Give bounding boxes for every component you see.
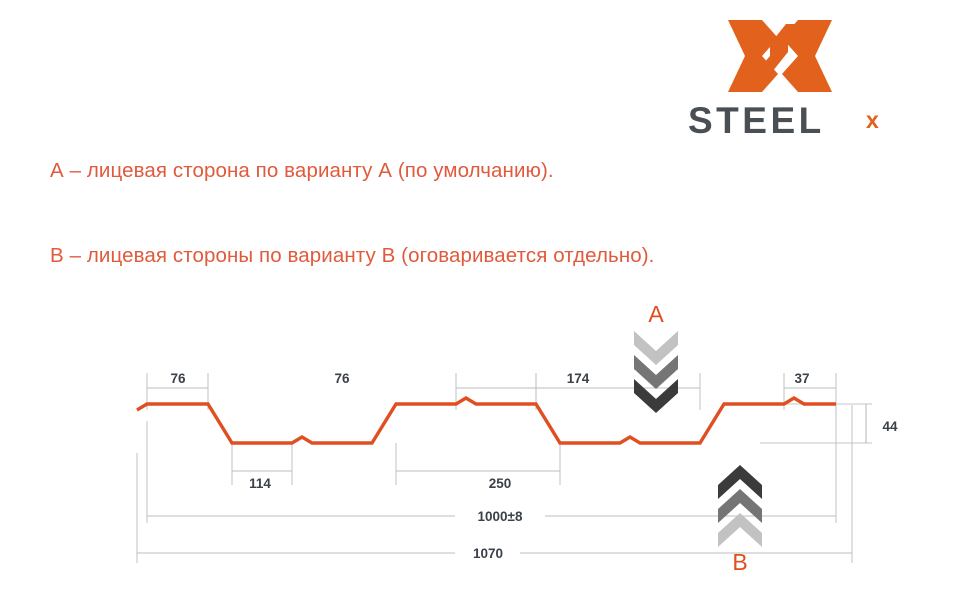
brand-logo: STEEL x <box>688 18 908 143</box>
caption-variant-a: А – лицевая сторона по варианту А (по ум… <box>50 159 554 183</box>
dim-label-useful-width: 1000±8 <box>478 509 523 524</box>
chevron-down-icon <box>634 331 678 413</box>
dim-label-crest-mid: 76 <box>334 371 350 386</box>
chevron-up-icon <box>718 465 762 547</box>
dim-label-total-width: 1070 <box>473 546 503 561</box>
profile-outline-path <box>137 398 836 443</box>
wordmark-superscript: x <box>866 107 879 133</box>
wordmark-text: STEEL <box>688 102 825 140</box>
side-marker-a: A <box>634 301 678 413</box>
dim-label-valley: 114 <box>249 476 271 491</box>
dim-label-crest-left: 76 <box>170 371 186 386</box>
dim-label-height: 44 <box>882 419 898 434</box>
dim-label-pitch: 250 <box>489 476 512 491</box>
steelx-x-mark-icon <box>726 18 834 94</box>
profile-technical-drawing: 76 76 174 37 44 114 250 1000±8 1070 A B <box>0 285 970 597</box>
side-marker-b: B <box>718 465 762 575</box>
dim-label-pitch-top: 174 <box>567 371 590 386</box>
dim-label-edge-crest: 37 <box>794 371 809 386</box>
steelx-wordmark: STEEL x <box>688 102 908 140</box>
side-marker-b-label: B <box>732 549 747 575</box>
caption-variant-b: В – лицевая стороны по варианту В (огова… <box>50 244 654 268</box>
side-marker-a-label: A <box>648 301 664 327</box>
